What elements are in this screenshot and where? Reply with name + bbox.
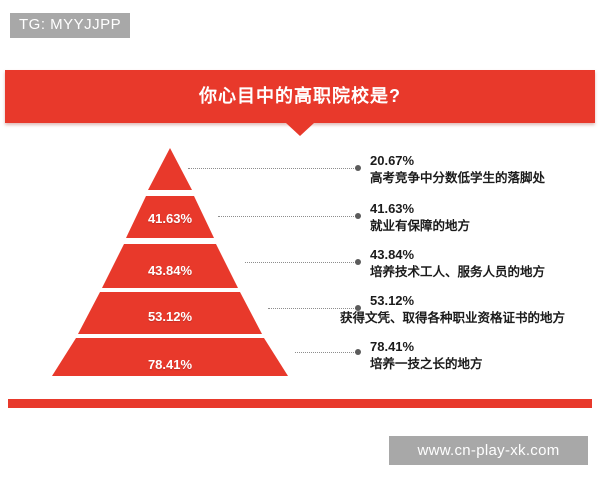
leader-line-2 — [218, 216, 356, 218]
tg-watermark: TG: MYYJJPP — [10, 13, 130, 38]
callout-4: 53.12% 获得文凭、取得各种职业资格证书的地方 — [340, 292, 565, 327]
callout-1: 20.67% 高考竞争中分数低学生的落脚处 — [370, 152, 545, 187]
header-notch-triangle-icon — [286, 123, 314, 136]
callout-5-percent: 78.41% — [370, 338, 483, 355]
callout-4-description: 获得文凭、取得各种职业资格证书的地方 — [340, 309, 565, 327]
callout-1-percent: 20.67% — [370, 152, 545, 169]
leader-line-1 — [188, 168, 356, 170]
pyramid-tier-4-label: 53.12% — [40, 309, 300, 324]
site-watermark: www.cn-play-xk.com — [389, 436, 588, 465]
callout-3-percent: 43.84% — [370, 246, 545, 263]
header-banner: 你心目中的高职院校是? — [5, 70, 595, 123]
leader-line-3 — [245, 262, 356, 264]
callout-1-description: 高考竞争中分数低学生的落脚处 — [370, 169, 545, 187]
callout-2: 41.63% 就业有保障的地方 — [370, 200, 470, 235]
leader-dot-3 — [355, 259, 361, 265]
leader-dot-5 — [355, 349, 361, 355]
pyramid-tier-2-label: 41.63% — [40, 211, 300, 226]
callout-3: 43.84% 培养技术工人、服务人员的地方 — [370, 246, 545, 281]
callout-2-percent: 41.63% — [370, 200, 470, 217]
leader-dot-1 — [355, 165, 361, 171]
leader-dot-2 — [355, 213, 361, 219]
callout-2-description: 就业有保障的地方 — [370, 217, 470, 235]
footer-divider — [8, 399, 592, 408]
pyramid-tier-5-label: 78.41% — [40, 357, 300, 372]
leader-line-5 — [295, 352, 356, 354]
callout-3-description: 培养技术工人、服务人员的地方 — [370, 263, 545, 281]
callout-4-percent: 53.12% — [340, 292, 565, 309]
pyramid-tier-3-label: 43.84% — [40, 263, 300, 278]
callout-5-description: 培养一技之长的地方 — [370, 355, 483, 373]
page-title: 你心目中的高职院校是? — [5, 70, 595, 123]
pyramid-tier-1 — [148, 148, 192, 190]
callout-5: 78.41% 培养一技之长的地方 — [370, 338, 483, 373]
